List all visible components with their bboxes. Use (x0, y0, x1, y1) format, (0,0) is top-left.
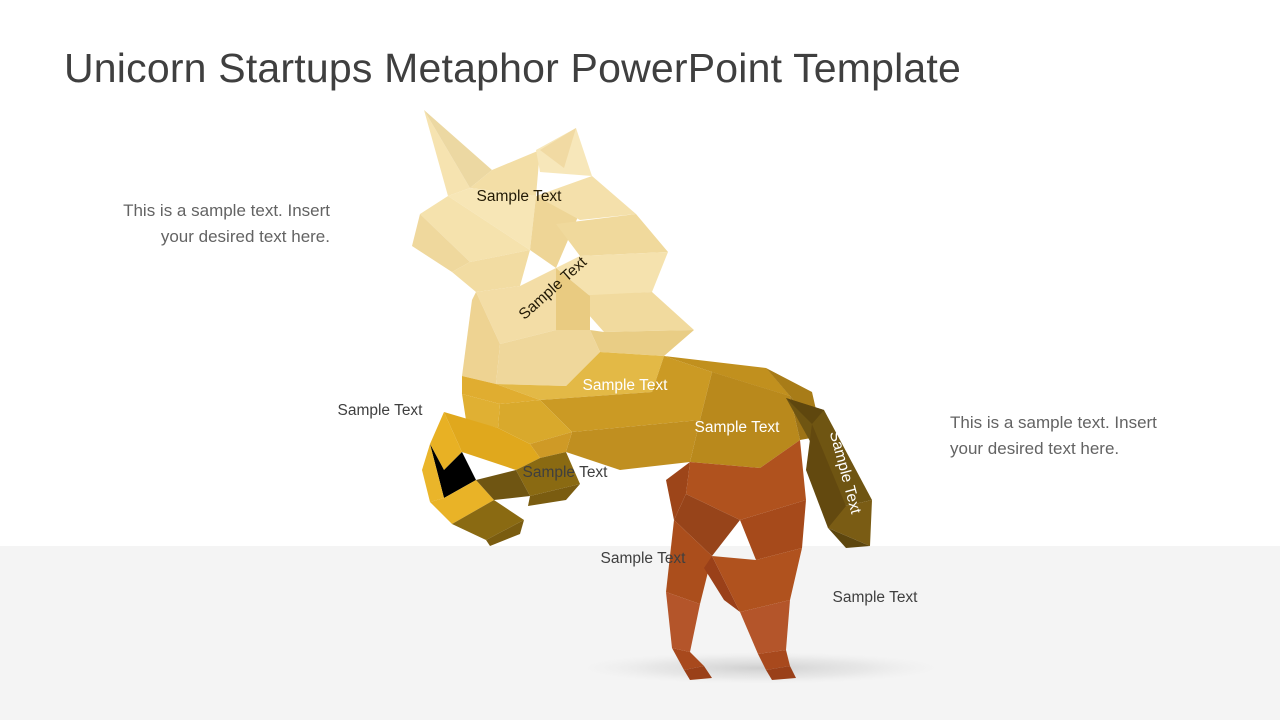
slide-canvas: Unicorn Startups Metaphor PowerPoint Tem… (0, 0, 1280, 720)
mane-spike-5 (590, 330, 694, 356)
unicorn-illustration (0, 0, 1280, 720)
mane-spike-4 (572, 292, 694, 332)
